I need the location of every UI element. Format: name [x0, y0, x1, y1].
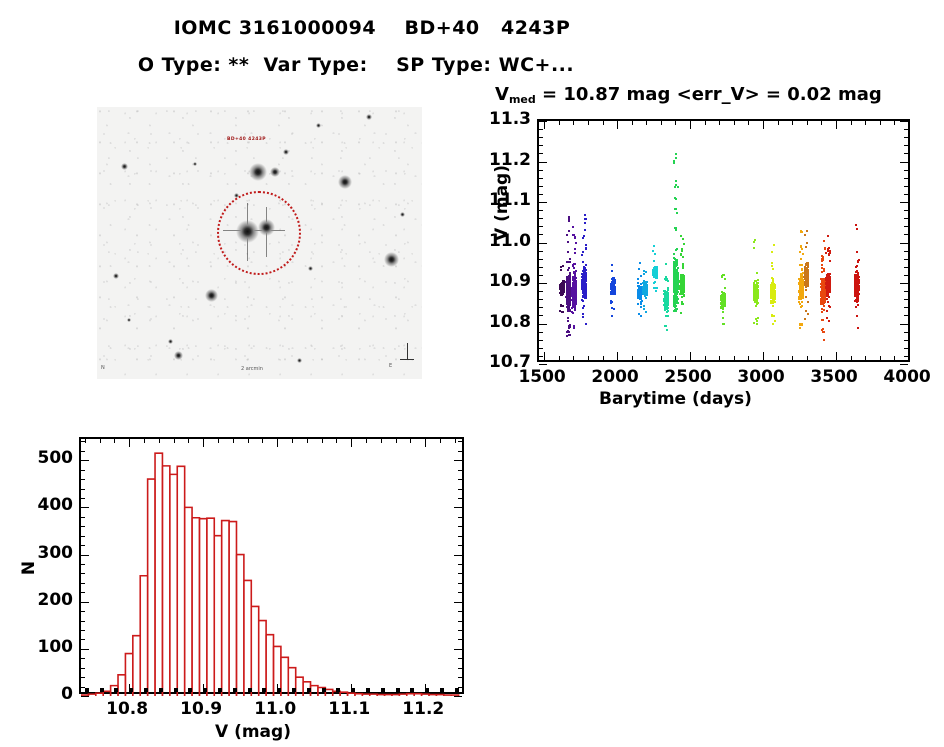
x-minor-tick — [85, 439, 86, 443]
lightcurve-point — [826, 285, 828, 287]
x-minor-tick — [559, 356, 560, 360]
lightcurve-y-tick-label: 11.2 — [475, 150, 531, 170]
x-minor-tick — [617, 121, 618, 125]
field-star — [297, 358, 302, 363]
lightcurve-point — [771, 251, 773, 253]
y-minor-tick — [458, 677, 462, 678]
lightcurve-point — [801, 305, 803, 307]
lightcurve-point — [756, 320, 758, 322]
lightcurve-point — [613, 284, 615, 286]
lightcurve-point — [822, 290, 824, 292]
lightcurve-point — [573, 267, 575, 269]
lightcurve-point — [855, 306, 857, 308]
lightcurve-point — [643, 273, 645, 275]
lightcurve-point — [611, 270, 613, 272]
y-minor-tick — [539, 218, 543, 219]
histogram-plot — [79, 437, 464, 694]
x-minor-tick — [894, 356, 895, 360]
field-star — [168, 339, 173, 344]
lightcurve-point — [828, 253, 830, 255]
lightcurve-point — [802, 294, 804, 296]
lightcurve-point — [584, 273, 586, 275]
lightcurve-x-tick-label: 4000 — [867, 367, 944, 387]
y-minor-tick — [81, 489, 85, 490]
y-minor-tick — [539, 137, 543, 138]
orientation-label-north: N — [101, 365, 105, 371]
lightcurve-point — [771, 277, 773, 279]
y-minor-tick — [904, 210, 908, 211]
lightcurve-point — [756, 296, 758, 298]
lightcurve-point — [676, 212, 678, 214]
lightcurve-point — [756, 302, 758, 304]
y-minor-tick — [81, 677, 85, 678]
y-minor-tick — [81, 507, 85, 508]
x-minor-tick — [188, 439, 189, 443]
lightcurve-point — [666, 329, 668, 331]
lightcurve-point — [585, 269, 587, 271]
histogram-x-tick-label: 10.9 — [161, 699, 241, 719]
lightcurve-point — [723, 298, 725, 300]
lightcurve-point — [674, 304, 676, 306]
lightcurve-point — [569, 258, 571, 260]
lightcurve-point — [581, 273, 583, 275]
y-minor-tick — [904, 129, 908, 130]
lightcurve-point — [560, 304, 562, 306]
y-minor-tick — [81, 498, 85, 499]
y-minor-tick — [539, 259, 543, 260]
lightcurve-point — [806, 268, 808, 270]
field-star — [193, 162, 197, 166]
lightcurve-point — [823, 240, 825, 242]
y-minor-tick — [458, 611, 462, 612]
y-minor-tick — [539, 170, 543, 171]
lightcurve-point — [674, 282, 676, 284]
x-minor-tick — [396, 439, 397, 443]
y-minor-tick — [81, 649, 85, 650]
lightcurve-point — [637, 295, 639, 297]
y-minor-tick — [904, 178, 908, 179]
x-minor-tick — [336, 688, 340, 692]
y-minor-tick — [458, 592, 462, 593]
x-minor-tick — [617, 356, 618, 360]
x-minor-tick — [366, 439, 367, 443]
y-minor-tick — [904, 145, 908, 146]
lightcurve-point — [667, 315, 669, 317]
y-minor-tick — [539, 129, 543, 130]
lightcurve-point — [722, 303, 724, 305]
y-minor-tick — [904, 226, 908, 227]
lightcurve-point — [667, 297, 669, 299]
lightcurve-point — [675, 157, 677, 159]
lightcurve-point — [798, 290, 800, 292]
x-minor-tick — [114, 688, 118, 692]
lightcurve-point — [807, 313, 809, 315]
lightcurve-point — [827, 248, 829, 250]
lightcurve-point — [682, 280, 684, 282]
x-minor-tick — [100, 439, 101, 443]
lightcurve-point — [566, 303, 568, 305]
lightcurve-point — [773, 315, 775, 317]
lightcurve-point — [674, 208, 676, 210]
y-minor-tick — [904, 299, 908, 300]
lightcurve-point — [674, 278, 676, 280]
lightcurve-point — [640, 315, 642, 317]
lightcurve-point — [753, 284, 755, 286]
lightcurve-x-tick-label: 1500 — [502, 367, 582, 387]
field-star — [127, 318, 131, 322]
x-minor-tick — [351, 688, 355, 692]
x-minor-tick — [588, 121, 589, 125]
y-minor-tick — [539, 210, 543, 211]
x-minor-tick — [603, 121, 604, 125]
y-minor-tick — [539, 234, 543, 235]
lightcurve-point — [645, 283, 647, 285]
target-star-primary — [236, 220, 259, 243]
x-minor-tick — [748, 121, 749, 125]
y-minor-tick — [81, 602, 85, 603]
lightcurve-point — [582, 316, 584, 318]
lightcurve-point — [856, 228, 858, 230]
lightcurve-point — [573, 263, 575, 265]
lightcurve-point — [857, 291, 859, 293]
lightcurve-point — [722, 311, 724, 313]
x-minor-tick — [277, 439, 278, 443]
lightcurve-point — [854, 282, 856, 284]
lightcurve-point — [755, 305, 757, 307]
lightcurve-point — [571, 307, 573, 309]
lightcurve-point — [682, 288, 684, 290]
field-star — [113, 273, 119, 279]
lightcurve-point — [799, 298, 801, 300]
x-minor-tick — [675, 356, 676, 360]
lightcurve-point — [581, 254, 583, 256]
y-minor-tick — [458, 621, 462, 622]
lightcurve-point — [585, 323, 587, 325]
lightcurve-point — [567, 241, 569, 243]
lightcurve-point — [676, 288, 678, 290]
lightcurve-point — [639, 286, 641, 288]
lightcurve-point — [611, 264, 613, 266]
lightcurve-point — [771, 262, 773, 264]
lightcurve-point — [585, 264, 587, 266]
histogram-y-axis-label: N — [19, 561, 39, 575]
lightcurve-point — [646, 287, 648, 289]
lightcurve-point — [820, 300, 822, 302]
y-minor-tick — [904, 340, 908, 341]
lightcurve-point — [645, 297, 647, 299]
y-minor-tick — [539, 226, 543, 227]
lightcurve-point — [582, 313, 584, 315]
lightcurve-point — [568, 296, 570, 298]
lightcurve-point — [611, 293, 613, 295]
x-minor-tick — [174, 688, 178, 692]
histogram-y-tick-label: 300 — [21, 543, 73, 563]
lightcurve-point — [562, 305, 564, 307]
lightcurve-point — [664, 293, 666, 295]
x-minor-tick — [425, 688, 429, 692]
lightcurve-point — [828, 286, 830, 288]
lightcurve-point — [567, 282, 569, 284]
lightcurve-point — [664, 278, 666, 280]
lightcurve-point — [856, 275, 858, 277]
x-minor-tick — [559, 121, 560, 125]
lightcurve-point — [805, 310, 807, 312]
lightcurve-point — [827, 301, 829, 303]
y-minor-tick — [81, 583, 85, 584]
y-minor-tick — [539, 348, 543, 349]
lightcurve-point — [856, 265, 858, 267]
y-minor-tick — [81, 517, 85, 518]
lightcurve-point — [656, 274, 658, 276]
lightcurve-point — [771, 294, 773, 296]
lightcurve-point — [675, 296, 677, 298]
dss-finder-chart: BD+40 4243P N 2 arcmin E — [97, 107, 422, 379]
x-minor-tick — [909, 121, 910, 125]
lightcurve-point — [855, 224, 857, 226]
x-minor-tick — [880, 121, 881, 125]
x-minor-tick — [366, 688, 370, 692]
lightcurve-point — [806, 242, 808, 244]
lightcurve-y-tick-label: 10.8 — [475, 312, 531, 332]
object-type-line: O Type: ** Var Type: SP Type: WC+... — [0, 54, 712, 76]
y-minor-tick — [458, 460, 462, 461]
histogram-y-tick-label: 100 — [21, 637, 73, 657]
y-tick — [539, 121, 547, 122]
lightcurve-point — [756, 323, 758, 325]
lightcurve-point — [610, 287, 612, 289]
lightcurve-point — [581, 299, 583, 301]
vmed-symbol: V — [495, 84, 509, 105]
x-minor-tick — [292, 439, 293, 443]
x-minor-tick — [129, 439, 130, 443]
scalebar-label: 2 arcmin — [241, 366, 263, 372]
y-minor-tick — [458, 555, 462, 556]
lightcurve-point — [680, 254, 682, 256]
lightcurve-y-tick-label: 11.1 — [475, 190, 531, 210]
lightcurve-point — [667, 287, 669, 289]
histogram-outline — [81, 453, 459, 696]
lightcurve-point — [799, 323, 801, 325]
x-minor-tick — [632, 356, 633, 360]
lightcurve-x-tick-label: 2000 — [575, 367, 655, 387]
lightcurve-point — [756, 272, 758, 274]
lightcurve-y-tick-label: 10.9 — [475, 271, 531, 291]
y-minor-tick — [904, 332, 908, 333]
x-minor-tick — [748, 356, 749, 360]
lightcurve-x-axis-label: Barytime (days) — [599, 389, 752, 409]
histogram-y-tick-label: 500 — [21, 448, 73, 468]
target-star-secondary — [258, 219, 275, 236]
histogram-y-tick-label: 400 — [21, 495, 73, 515]
lightcurve-point — [773, 294, 775, 296]
y-minor-tick — [904, 202, 908, 203]
x-minor-tick — [807, 121, 808, 125]
lightcurve-point — [572, 302, 574, 304]
lightcurve-point — [754, 291, 756, 293]
lightcurve-point — [639, 262, 641, 264]
lightcurve-point — [800, 258, 802, 260]
y-minor-tick — [458, 639, 462, 640]
y-minor-tick — [539, 251, 543, 252]
lightcurve-point — [583, 291, 585, 293]
finder-object-label: BD+40 4243P — [227, 137, 266, 142]
lightcurve-point — [571, 294, 573, 296]
x-minor-tick — [821, 121, 822, 125]
lightcurve-point — [722, 317, 724, 319]
lightcurve-point — [566, 279, 568, 281]
lightcurve-point — [574, 272, 576, 274]
x-minor-tick — [646, 356, 647, 360]
x-minor-tick — [85, 688, 89, 692]
y-minor-tick — [539, 324, 543, 325]
lightcurve-point — [857, 304, 859, 306]
lightcurve-point — [559, 310, 561, 312]
lightcurve-point — [772, 305, 774, 307]
lightcurve-point — [665, 300, 667, 302]
y-minor-tick — [458, 526, 462, 527]
y-minor-tick — [904, 267, 908, 268]
x-minor-tick — [705, 356, 706, 360]
lightcurve-point — [821, 264, 823, 266]
y-minor-tick — [458, 602, 462, 603]
lightcurve-point — [653, 245, 655, 247]
lightcurve-point — [561, 290, 563, 292]
median-magnitude-line: Vmed = 10.87 mag <err_V> = 0.02 mag — [495, 84, 935, 105]
y-minor-tick — [81, 592, 85, 593]
x-minor-tick — [734, 121, 735, 125]
lightcurve-point — [674, 186, 676, 188]
lightcurve-point — [721, 299, 723, 301]
x-minor-tick — [573, 356, 574, 360]
y-minor-tick — [904, 186, 908, 187]
x-minor-tick — [410, 439, 411, 443]
lightcurve-point — [675, 249, 677, 251]
lightcurve-point — [611, 315, 613, 317]
lightcurve-point — [562, 311, 564, 313]
lightcurve-point — [681, 248, 683, 250]
x-minor-tick — [646, 121, 647, 125]
lightcurve-y-tick-label: 11.0 — [475, 231, 531, 251]
x-minor-tick — [455, 439, 456, 443]
lightcurve-point — [611, 301, 613, 303]
x-minor-tick — [661, 121, 662, 125]
x-minor-tick — [307, 439, 308, 443]
y-minor-tick — [539, 356, 543, 357]
lightcurve-point — [805, 246, 807, 248]
x-minor-tick — [203, 439, 204, 443]
lightcurve-point — [801, 231, 803, 233]
lightcurve-point — [856, 301, 858, 303]
y-minor-tick — [458, 668, 462, 669]
x-minor-tick — [188, 688, 192, 692]
lightcurve-point — [666, 311, 668, 313]
lightcurve-point — [566, 331, 568, 333]
lightcurve-point — [638, 268, 640, 270]
x-minor-tick — [218, 688, 222, 692]
y-minor-tick — [458, 451, 462, 452]
lightcurve-point — [568, 230, 570, 232]
x-minor-tick — [262, 688, 266, 692]
x-minor-tick — [778, 356, 779, 360]
lightcurve-point — [857, 261, 859, 263]
y-minor-tick — [904, 283, 908, 284]
lightcurve-point — [673, 253, 675, 255]
lightcurve-point — [573, 297, 575, 299]
lightcurve-point — [771, 296, 773, 298]
lightcurve-point — [682, 238, 684, 240]
x-minor-tick — [114, 439, 115, 443]
lightcurve-point — [806, 282, 808, 284]
x-minor-tick — [573, 121, 574, 125]
x-minor-tick — [632, 121, 633, 125]
lightcurve-point — [805, 271, 807, 273]
lightcurve-point — [573, 234, 575, 236]
lightcurve-point — [805, 289, 807, 291]
lightcurve-point — [724, 287, 726, 289]
lightcurve-point — [771, 288, 773, 290]
lightcurve-point — [722, 323, 724, 325]
lightcurve-x-tick-label: 2500 — [648, 367, 728, 387]
lightcurve-point — [584, 222, 586, 224]
lightcurve-point — [653, 260, 655, 262]
lightcurve-point — [772, 268, 774, 270]
lightcurve-point — [584, 229, 586, 231]
lightcurve-point — [583, 296, 585, 298]
lightcurve-point — [722, 274, 724, 276]
lightcurve-point — [753, 247, 755, 249]
lightcurve-point — [857, 327, 859, 329]
lightcurve-point — [643, 305, 645, 307]
field-star — [174, 351, 183, 360]
lightcurve-point — [572, 289, 574, 291]
lightcurve-point — [585, 279, 587, 281]
lightcurve-point — [674, 288, 676, 290]
x-minor-tick — [603, 356, 604, 360]
lightcurve-point — [654, 287, 656, 289]
lightcurve-point — [568, 285, 570, 287]
histogram-x-axis-label: V (mag) — [215, 722, 291, 742]
x-minor-tick — [763, 356, 764, 360]
lightcurve-point — [613, 308, 615, 310]
x-minor-tick — [690, 356, 691, 360]
lightcurve-point — [567, 310, 569, 312]
x-minor-tick — [661, 356, 662, 360]
x-minor-tick — [262, 439, 263, 443]
lightcurve-point — [643, 308, 645, 310]
y-minor-tick — [81, 536, 85, 537]
lightcurve-point — [568, 307, 570, 309]
y-minor-tick — [81, 630, 85, 631]
x-minor-tick — [690, 121, 691, 125]
y-minor-tick — [81, 451, 85, 452]
histogram-x-tick-label: 11.2 — [383, 699, 463, 719]
lightcurve-point — [560, 266, 562, 268]
field-star — [366, 114, 372, 120]
lightcurve-point — [829, 283, 831, 285]
field-star — [205, 289, 218, 302]
lightcurve-point — [676, 273, 678, 275]
lightcurve-point — [771, 265, 773, 267]
lightcurve-point — [665, 325, 667, 327]
y-minor-tick — [904, 153, 908, 154]
lightcurve-point — [681, 250, 683, 252]
y-minor-tick — [904, 275, 908, 276]
lightcurve-point — [801, 248, 803, 250]
y-minor-tick — [458, 536, 462, 537]
x-minor-tick — [233, 688, 237, 692]
y-minor-tick — [904, 251, 908, 252]
histogram-y-tick-label: 0 — [21, 684, 73, 704]
